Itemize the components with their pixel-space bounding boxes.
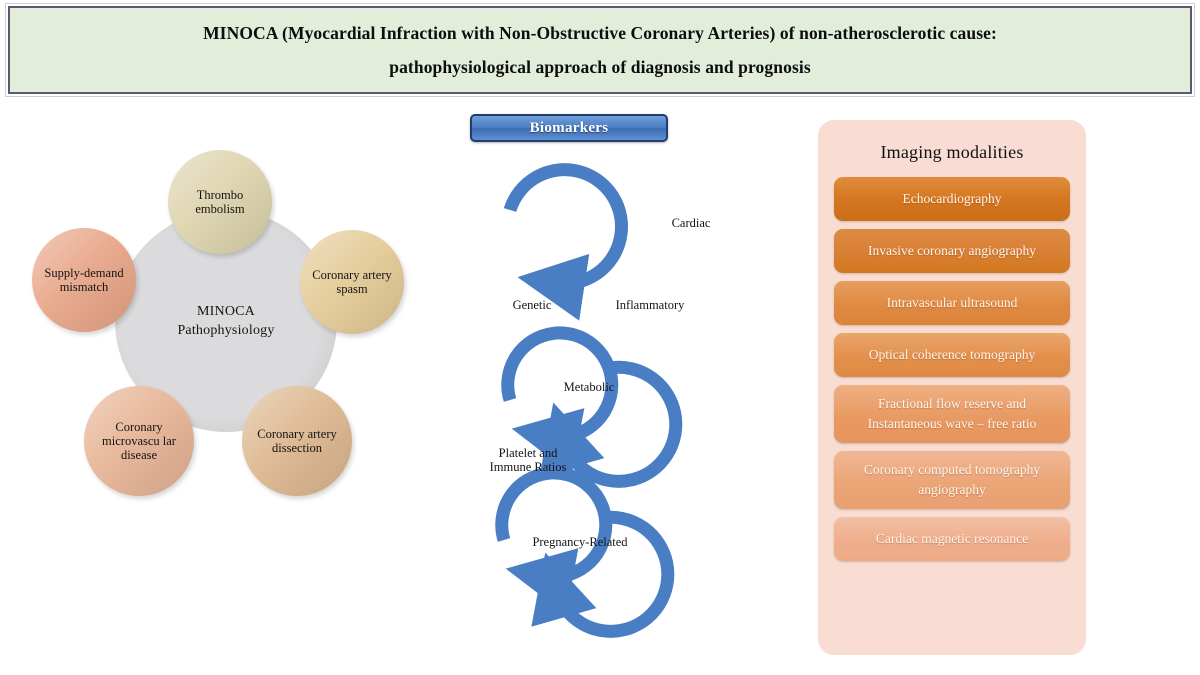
- modality-echocardiography[interactable]: Echocardiography: [834, 177, 1070, 221]
- wheel-node-coronary-artery-dissection[interactable]: Coronary artery dissection: [242, 386, 352, 496]
- imaging-modalities-panel: Imaging modalities Echocardiography Inva…: [818, 120, 1086, 655]
- arrow-ring-cardiac: [510, 170, 622, 284]
- wheel-node-label: Coronary microvascu lar disease: [90, 420, 188, 463]
- modality-invasive-coronary-angiography[interactable]: Invasive coronary angiography: [834, 229, 1070, 273]
- wheel-node-coronary-microvascular-disease[interactable]: Coronary microvascu lar disease: [84, 386, 194, 496]
- wheel-node-supply-demand-mismatch[interactable]: Supply-demand mismatch: [32, 228, 136, 332]
- biomarker-label-metabolic: Metabolic: [534, 380, 644, 394]
- biomarker-label-inflammatory: Inflammatory: [594, 298, 706, 312]
- wheel-node-coronary-artery-spasm[interactable]: Coronary artery spasm: [300, 230, 404, 334]
- modality-fractional-flow-reserve[interactable]: Fractional flow reserve and Instantaneou…: [834, 385, 1070, 443]
- modality-intravascular-ultrasound[interactable]: Intravascular ultrasound: [834, 281, 1070, 325]
- wheel-node-label: Coronary artery dissection: [248, 427, 346, 456]
- wheel-hub-line-2: Pathophysiology: [177, 323, 274, 339]
- imaging-modalities-list: Echocardiography Invasive coronary angio…: [818, 177, 1086, 561]
- page-title-line-2: pathophysiological approach of diagnosis…: [389, 57, 810, 77]
- wheel-node-label: Thrombo embolism: [174, 188, 266, 217]
- modality-coronary-computed-tomography-angiography[interactable]: Coronary computed tomography angiography: [834, 451, 1070, 509]
- infographic-page: MINOCA (Myocardial Infraction with Non-O…: [0, 0, 1200, 675]
- wheel-node-thromboembolism[interactable]: Thrombo embolism: [168, 150, 272, 254]
- imaging-modalities-title: Imaging modalities: [818, 142, 1086, 163]
- page-title: MINOCA (Myocardial Infraction with Non-O…: [8, 6, 1192, 94]
- biomarker-label-pregnancy-related: Pregnancy-Related: [530, 535, 630, 549]
- wheel-node-label: Coronary artery spasm: [306, 268, 398, 297]
- modality-cardiac-magnetic-resonance[interactable]: Cardiac magnetic resonance: [834, 517, 1070, 561]
- biomarker-label-genetic: Genetic: [490, 298, 574, 312]
- page-title-line-1: MINOCA (Myocardial Infraction with Non-O…: [203, 23, 997, 43]
- wheel-node-label: Supply-demand mismatch: [38, 266, 130, 295]
- minoca-pathophysiology-wheel: MINOCA Pathophysiology Thrombo embolism …: [10, 128, 430, 528]
- wheel-hub-line-1: MINOCA: [197, 304, 255, 320]
- biomarkers-section: Biomarkers Cardiac Genetic: [450, 110, 770, 670]
- modality-optical-coherence-tomography[interactable]: Optical coherence tomography: [834, 333, 1070, 377]
- biomarker-label-cardiac: Cardiac: [646, 216, 736, 230]
- arrow-ring-platelet: [502, 473, 606, 577]
- biomarker-label-platelet-immune-ratios: Platelet and Immune Ratios: [478, 446, 578, 475]
